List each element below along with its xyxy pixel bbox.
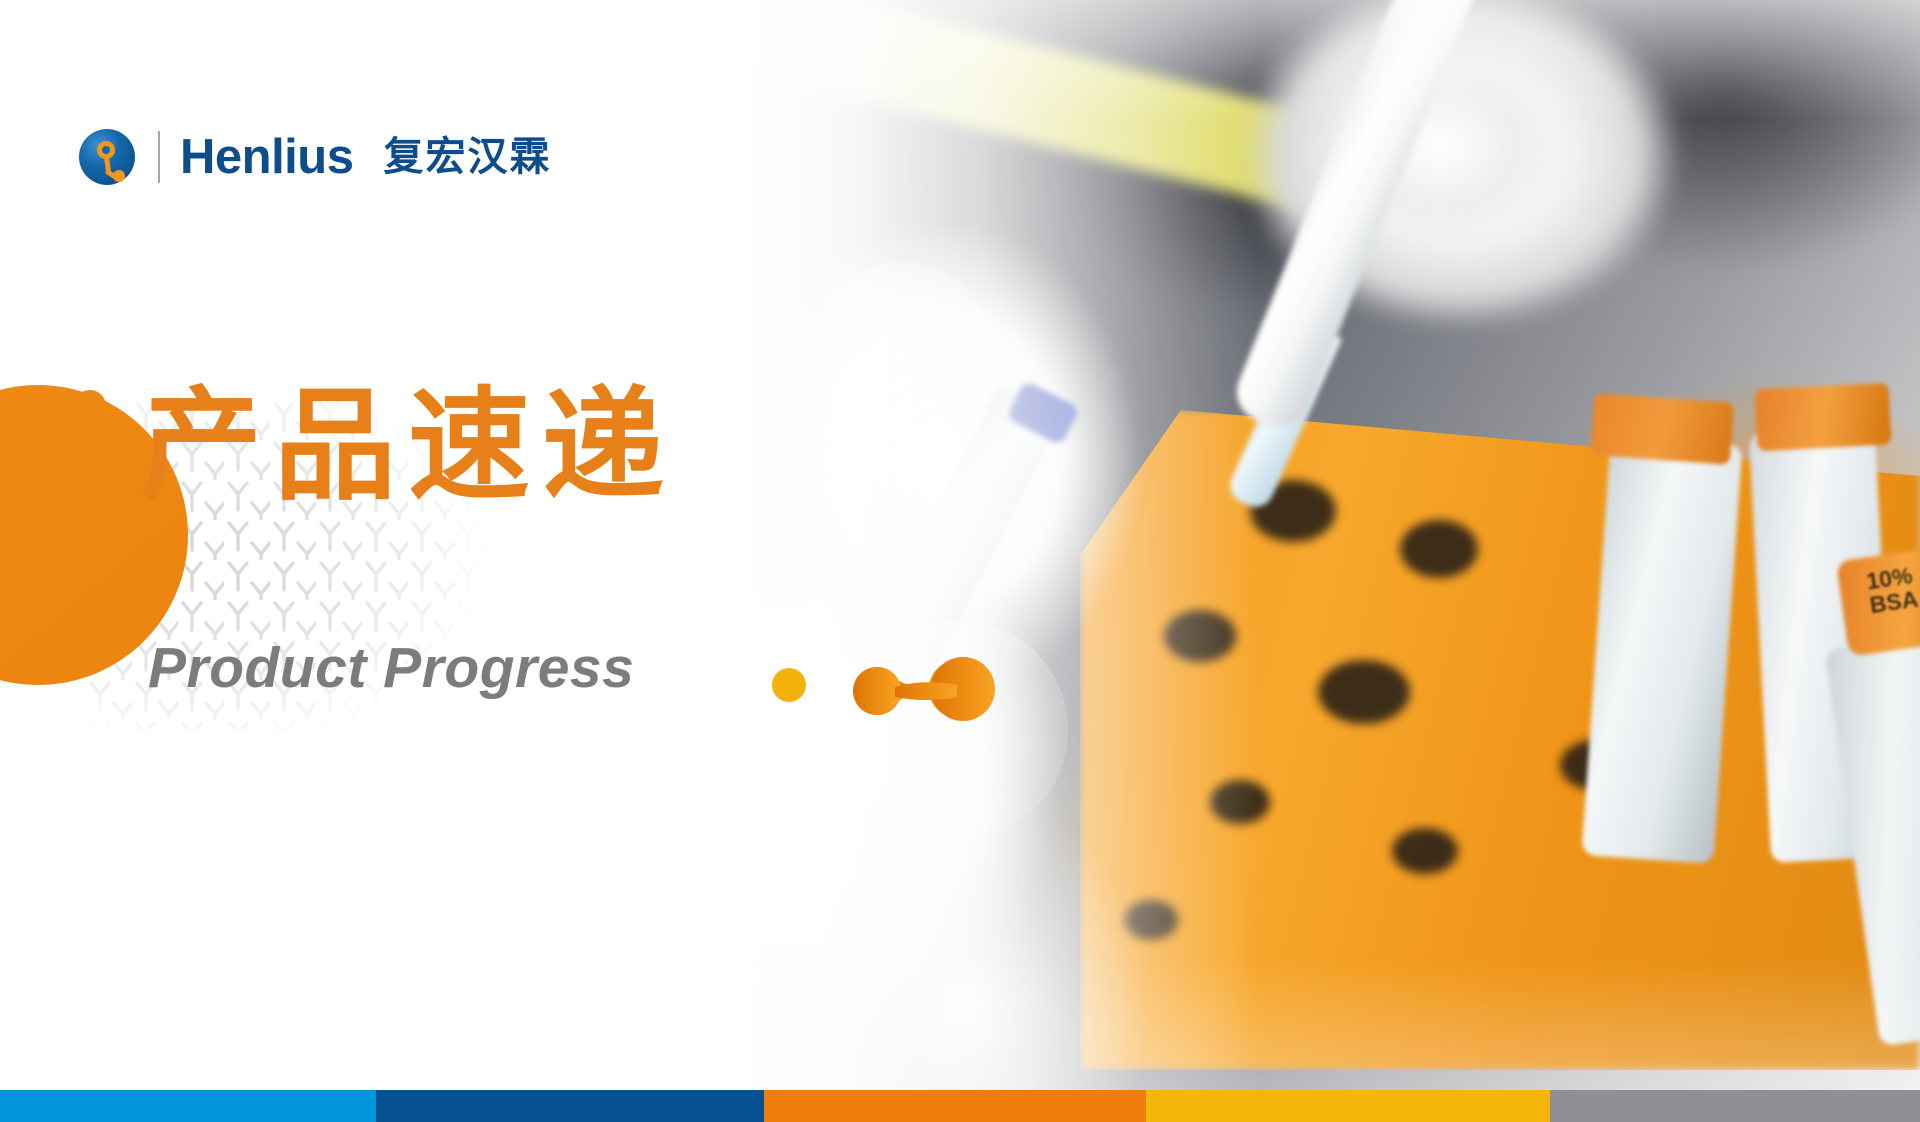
bar-segment-light-blue (0, 1090, 376, 1122)
tube-label-bsa: 10%BSA (1865, 563, 1920, 618)
rack-hole (1318, 660, 1410, 724)
molecule-cluster-icon (22, 378, 132, 456)
photo-left-fade (560, 0, 1260, 1090)
bar-segment-gold (1146, 1090, 1550, 1122)
bar-segment-dark-blue (376, 1090, 764, 1122)
rack-hole (1400, 520, 1478, 578)
logo-wordmark-cn: 复宏汉霖 (383, 137, 551, 177)
page-title-cn: 产品速递 (140, 375, 676, 519)
bar-segment-gray (1550, 1090, 1920, 1122)
logo-divider (158, 131, 160, 183)
test-tube-cap (1590, 393, 1734, 465)
page-subtitle-en: Product Progress (148, 640, 634, 697)
product-progress-cover-slide: 10%BSA (0, 0, 1920, 1122)
test-tube-cap (1754, 383, 1891, 452)
logo-wordmark-en: Henlius (180, 133, 353, 182)
gold-dot-icon (772, 668, 806, 702)
henlius-circle-molecule-logo-icon (78, 128, 136, 186)
rack-hole (1392, 828, 1458, 874)
bar-segment-orange (764, 1090, 1146, 1122)
molecule-dumbbell-icon (845, 645, 1015, 737)
bottom-color-bar (0, 1090, 1920, 1122)
henlius-logo[interactable]: Henlius 复宏汉霖 (78, 128, 551, 186)
